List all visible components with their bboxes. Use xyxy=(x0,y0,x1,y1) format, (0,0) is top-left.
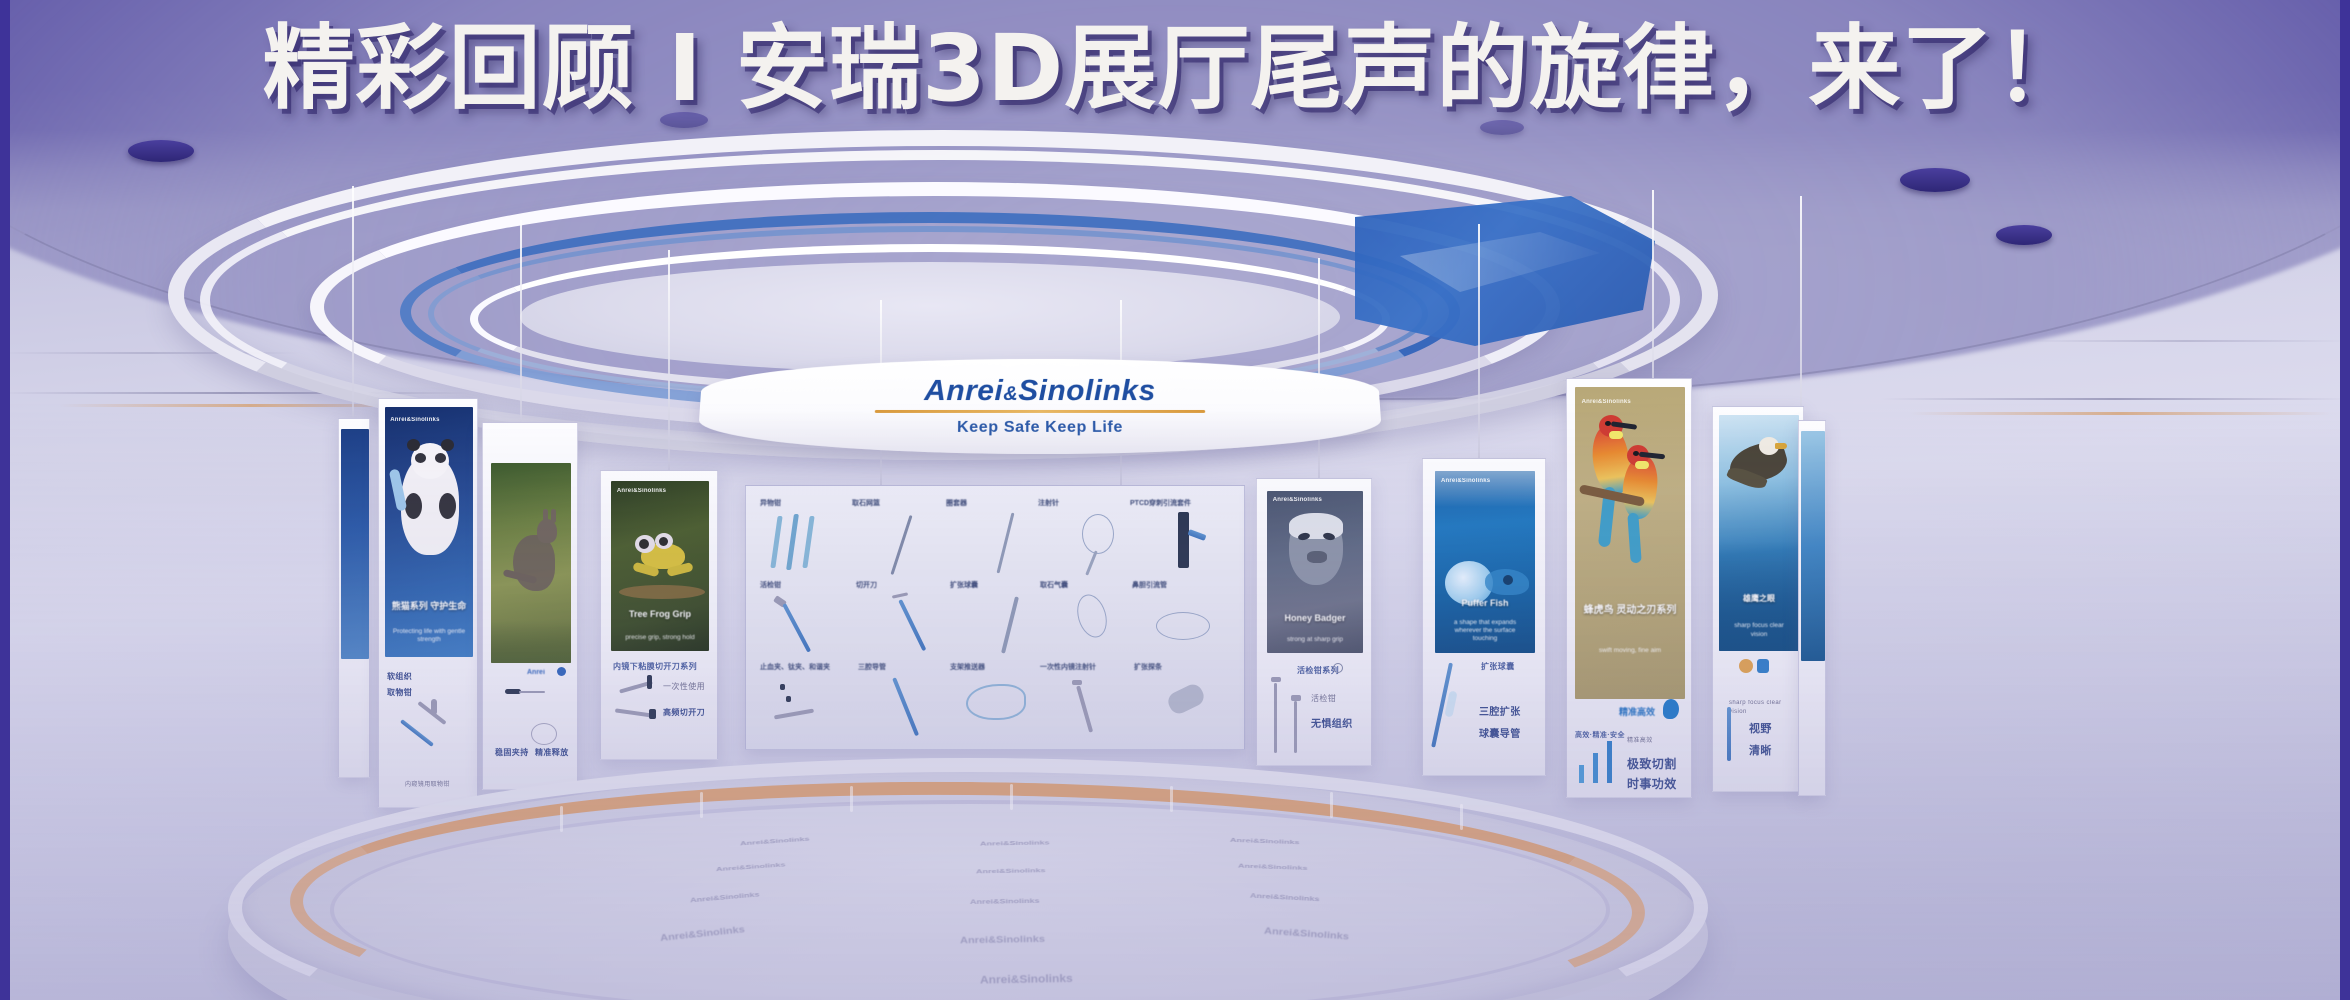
instrument-row: 活检钳 切开刀 扩张球囊 取石气囊 鼻胆引流管 xyxy=(760,580,1230,662)
poster-subtitle: precise grip, strong hold xyxy=(619,634,701,642)
poster-honey-badger: Anrei&Sinolinks Honey Badger strong at s… xyxy=(1267,491,1363,653)
poster-frog: Anrei&Sinolinks Tree Frog Grip precise g… xyxy=(611,481,709,651)
product-silhouette xyxy=(892,677,919,736)
brand-name-part2: Sinolinks xyxy=(1018,374,1156,406)
instrument-label: 取石网篮 xyxy=(852,498,880,508)
product-silhouette xyxy=(780,684,785,690)
product-silhouette xyxy=(782,603,811,653)
poster-edge-blue xyxy=(1801,431,1825,661)
instrument-label: 止血夹、钛夹、和谐夹 xyxy=(760,662,830,672)
product-silhouette xyxy=(1082,514,1114,554)
product-silhouette xyxy=(774,709,814,720)
panel-panda[interactable]: Anrei&Sinolinks 熊猫系列 守护生命 Protecting lif… xyxy=(378,398,478,808)
floor-railing-post xyxy=(850,786,853,812)
page-title: 精彩回顾 I 安瑞3D展厅尾声的旋律，来了！ xyxy=(0,22,2350,116)
poster-brand-label: Anrei&Sinolinks xyxy=(390,417,439,423)
ceiling-spot-light xyxy=(1480,120,1524,135)
panel-bee-eater[interactable]: Anrei&Sinolinks 蜂虎鸟 灵动之刃系列 swift moving,… xyxy=(1566,378,1692,798)
instrument-label: 鼻胆引流管 xyxy=(1132,580,1167,590)
product-silhouette xyxy=(1076,685,1093,732)
brand-tagline: Keep Safe Keep Life xyxy=(957,418,1123,436)
panel-caption-line-1: 视野 xyxy=(1749,721,1772,738)
panel-caption-line-2: 精准释放 xyxy=(535,747,569,759)
ceiling-spot-light xyxy=(128,140,194,162)
panel-caption-line-2: 时事功效 xyxy=(1627,775,1677,793)
instrument-label: 取石气囊 xyxy=(1040,580,1068,590)
poster-brand-label: Anrei&Sinolinks xyxy=(617,488,666,494)
poster-title: 熊猫系列 守护生命 xyxy=(390,601,467,612)
poster-title: Puffer Fish xyxy=(1441,598,1529,609)
poster-bee-eater: Anrei&Sinolinks 蜂虎鸟 灵动之刃系列 swift moving,… xyxy=(1575,387,1685,699)
panel-footer-caption: 内窥镜用取物钳 xyxy=(405,781,450,790)
instrument-label: 异物钳 xyxy=(760,498,781,508)
brand-mark-small: Anrei xyxy=(527,669,545,676)
poster-subtitle: swift moving, fine aim xyxy=(1584,647,1676,655)
panel-eagle[interactable]: 雄鹰之眼 sharp focus clear vision sharp focu… xyxy=(1712,406,1804,792)
poster-puffer-fish: Anrei&Sinolinks Puffer Fish a shape that… xyxy=(1435,471,1535,653)
product-silhouette xyxy=(892,592,908,598)
brand-logo-icon xyxy=(1663,699,1679,719)
right-edge-border xyxy=(2340,0,2350,1000)
brand-logo-icon xyxy=(1757,659,1769,673)
product-silhouette xyxy=(519,691,545,693)
brand-dot-icon xyxy=(557,667,566,676)
instrument-label: 扩张球囊 xyxy=(950,580,978,590)
wall-trim-line xyxy=(0,392,470,394)
product-silhouette xyxy=(997,513,1015,574)
info-circle-icon xyxy=(1333,663,1343,673)
panel-far-right[interactable] xyxy=(1798,420,1826,796)
panel-puffer-fish[interactable]: Anrei&Sinolinks Puffer Fish a shape that… xyxy=(1422,458,1546,776)
product-silhouette xyxy=(649,709,656,719)
product-silhouette xyxy=(890,515,912,575)
floor-watermark-text: Anrei&Sinolinks xyxy=(980,839,1050,846)
panel-caption-line-1: 软组织 xyxy=(387,671,412,683)
panel-caption-line-1: 内镜下粘膜切开刀系列 xyxy=(613,661,697,673)
product-silhouette xyxy=(1271,677,1281,682)
poster-title: Tree Frog Grip xyxy=(617,609,703,620)
panel-caption-line-2: 清晰 xyxy=(1749,743,1772,760)
product-silhouette xyxy=(966,684,1026,720)
floor-railing-post xyxy=(700,792,703,818)
panel-caption-note: 精准高效 xyxy=(1627,737,1653,746)
poster-kangaroo xyxy=(491,463,571,663)
brand-name-part1: Anrei xyxy=(924,374,1003,406)
product-silhouette xyxy=(786,696,791,702)
brand-underline xyxy=(875,409,1205,412)
wall-trim-line-orange xyxy=(1910,412,2330,415)
poster-brand-label: Anrei&Sinolinks xyxy=(1582,399,1631,405)
instrument-label: 注射针 xyxy=(1038,498,1059,508)
floor-railing-post xyxy=(1010,784,1013,810)
poster-panda: Anrei&Sinolinks 熊猫系列 守护生命 Protecting lif… xyxy=(385,407,473,657)
poster-subtitle: a shape that expands wherever the surfac… xyxy=(1443,619,1527,644)
chart-caption: 高效·精准·安全 xyxy=(1575,731,1625,742)
poster-title: 雄鹰之眼 xyxy=(1724,594,1794,604)
product-silhouette xyxy=(898,599,926,651)
product-silhouette xyxy=(647,675,652,689)
panel-caption-line-3: 无惧组织 xyxy=(1311,717,1353,732)
floor-railing-post xyxy=(1460,804,1463,830)
instrument-label: 支架推送器 xyxy=(950,662,985,672)
panel-caption-line-2: 活检钳 xyxy=(1311,693,1336,705)
brand-ampersand: & xyxy=(1003,383,1018,405)
wall-trim-line xyxy=(2020,340,2350,342)
poster-title: 蜂虎鸟 灵动之刃系列 xyxy=(1582,605,1679,618)
brand-mark-small: 精准高效 xyxy=(1619,705,1655,718)
poster-panda-edge xyxy=(341,429,369,659)
instrument-label: 活检钳 xyxy=(760,580,781,590)
floor-watermark-text: Anrei&Sinolinks xyxy=(970,897,1040,905)
panel-caption-line-1: 稳固夹持 xyxy=(495,747,529,759)
instrument-label: 一次性内镜注射针 xyxy=(1040,662,1096,672)
panel-caption-line-3: 高频切开刀 xyxy=(663,707,705,719)
instrument-label: 三腔导管 xyxy=(858,662,886,672)
instrument-label: 切开刀 xyxy=(856,580,877,590)
poster-brand-label: Anrei&Sinolinks xyxy=(1273,497,1322,503)
instrument-row: 止血夹、钛夹、和谐夹 三腔导管 支架推送器 一次性内镜注射针 扩张探条 xyxy=(760,662,1230,744)
instrument-label: 扩张探条 xyxy=(1134,662,1162,672)
product-silhouette xyxy=(1001,596,1019,653)
product-silhouette xyxy=(531,723,557,745)
product-silhouette xyxy=(1188,529,1207,541)
poster-subtitle: Protecting life with gentle strength xyxy=(392,628,466,645)
instrument-display-wall[interactable]: 异物钳 取石网篮 圈套器 注射针 PTCD穿刺引流套件 活检钳 切开刀 扩张球囊… xyxy=(745,485,1245,750)
floor-watermark-text: Anrei&Sinolinks xyxy=(980,972,1073,986)
bar-item xyxy=(1607,741,1612,783)
instrument-label: 圈套器 xyxy=(946,498,967,508)
panel-frog[interactable]: Anrei&Sinolinks Tree Frog Grip precise g… xyxy=(600,470,718,760)
product-silhouette xyxy=(802,516,814,568)
floor-watermark-text: Anrei&Sinolinks xyxy=(976,867,1046,875)
wall-trim-line xyxy=(1880,398,2350,400)
brand-logo-icon xyxy=(1739,659,1753,673)
panel-honey-badger[interactable]: Anrei&Sinolinks Honey Badger strong at s… xyxy=(1256,478,1372,766)
product-silhouette xyxy=(1085,550,1098,575)
panel-caption-line-1: 极致切割 xyxy=(1627,755,1677,773)
product-silhouette xyxy=(1274,683,1277,753)
bar-item xyxy=(1593,753,1598,783)
bar-item xyxy=(1579,765,1584,783)
panel-caption-line-2: 三腔扩张 xyxy=(1479,705,1521,720)
left-edge-border xyxy=(0,0,10,1000)
floor-watermark-text: Anrei&Sinolinks xyxy=(960,934,1045,945)
exhibition-banner: Anrei&Sinolinks 熊猫系列 守护生命 Protecting lif… xyxy=(0,0,2350,1000)
product-silhouette xyxy=(1072,680,1082,685)
product-silhouette xyxy=(1165,681,1207,717)
floor-railing-post xyxy=(1170,786,1173,812)
panel-caption-line-2: 取物钳 xyxy=(387,687,412,699)
product-silhouette xyxy=(400,719,434,747)
instrument-label: PTCD穿刺引流套件 xyxy=(1130,498,1191,508)
brand-logo-band: Anrei&Sinolinks Keep Safe Keep Life xyxy=(697,359,1384,454)
product-silhouette xyxy=(1727,707,1731,761)
product-silhouette xyxy=(770,516,782,568)
floor-railing-post xyxy=(1330,792,1333,818)
poster-subtitle: strong at sharp grip xyxy=(1275,636,1356,644)
panel-caption-note: sharp focus clear vision xyxy=(1729,699,1793,717)
product-silhouette xyxy=(1072,591,1111,641)
panel-caption-line-2: 一次性使用 xyxy=(663,681,705,693)
ceiling-spot-light xyxy=(1996,225,2052,245)
poster-eagle: 雄鹰之眼 sharp focus clear vision xyxy=(1719,415,1799,651)
panel-caption-line-1: 扩张球囊 xyxy=(1481,661,1515,673)
panel-far-left[interactable] xyxy=(338,418,370,778)
product-silhouette xyxy=(1178,512,1189,568)
floor-railing-post xyxy=(560,806,563,832)
product-silhouette xyxy=(786,514,799,570)
brand-logo-text: Anrei&Sinolinks xyxy=(924,376,1156,406)
instrument-row: 异物钳 取石网篮 圈套器 注射针 PTCD穿刺引流套件 xyxy=(760,498,1230,580)
poster-title: Honey Badger xyxy=(1273,613,1358,624)
product-silhouette xyxy=(1156,612,1210,640)
poster-subtitle: sharp focus clear vision xyxy=(1725,622,1792,639)
product-silhouette xyxy=(1444,690,1457,717)
wall-trim-line xyxy=(0,352,300,354)
panel-kangaroo[interactable]: Anrei 稳固夹持 精准释放 xyxy=(482,422,578,790)
ceiling-spot-light xyxy=(1900,168,1970,192)
product-silhouette xyxy=(1294,701,1297,753)
panel-caption-line-3: 球囊导管 xyxy=(1479,727,1521,742)
product-silhouette xyxy=(615,708,653,717)
